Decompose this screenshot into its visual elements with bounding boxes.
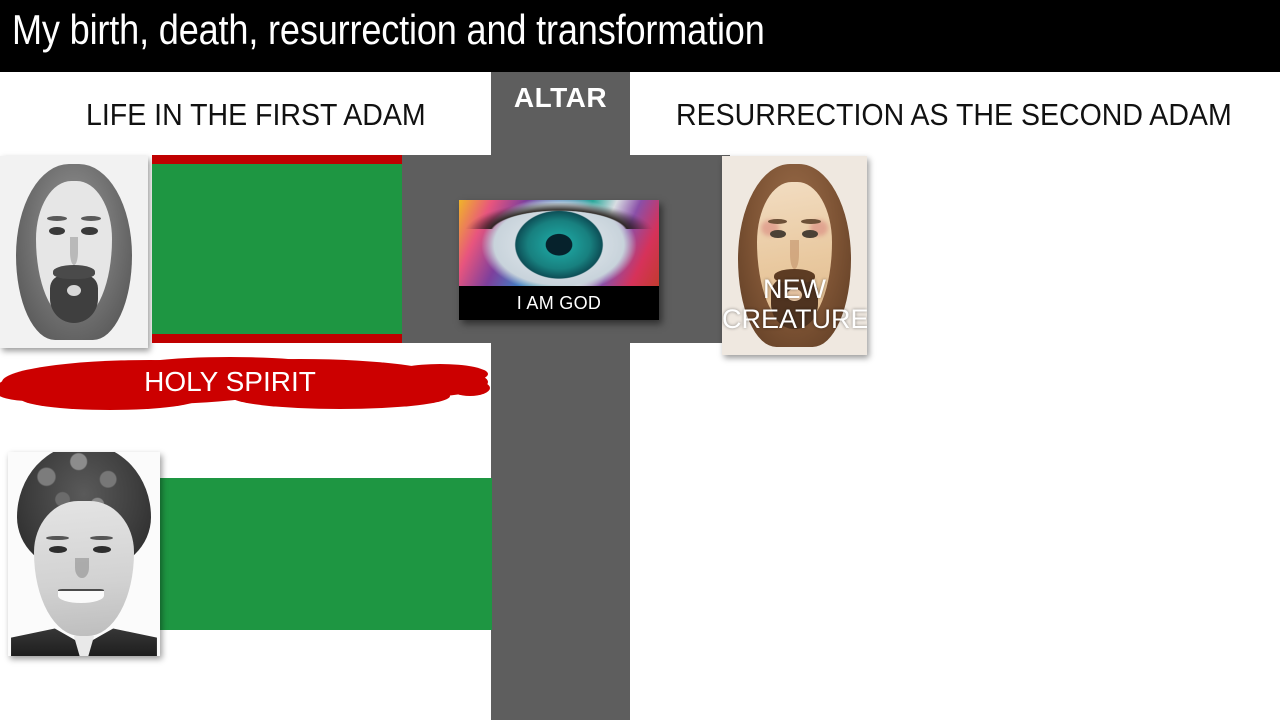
beard-shape: [50, 275, 97, 323]
right-eyebrow-shape: [801, 219, 821, 224]
page-title: My birth, death, resurrection and transf…: [12, 6, 765, 54]
smile-shape: [58, 589, 104, 603]
face-illustration: [0, 156, 148, 348]
eyelash-shape: [459, 203, 659, 229]
right-eye-shape: [93, 546, 111, 553]
right-eyebrow-shape: [90, 536, 113, 540]
man-grayscale-headshot: [8, 452, 160, 656]
left-eye-shape: [49, 546, 67, 553]
new-creature-line1: NEW: [722, 274, 867, 304]
heading-resurrection-second-adam: RESURRECTION AS THE SECOND ADAM: [676, 97, 1232, 133]
nose-shape: [790, 240, 799, 270]
altar-eye-card: I AM GOD: [459, 200, 659, 320]
holy-spirit-label: HOLY SPIRIT: [0, 366, 460, 398]
nose-shape: [75, 558, 89, 578]
new-creature-overlay: NEW CREATURE: [722, 274, 867, 334]
red-bar-top: [152, 155, 402, 164]
moustache-shape: [53, 265, 94, 278]
bottom-green-panel: [158, 478, 492, 630]
altar-label: ALTAR: [491, 82, 630, 114]
left-eye-shape: [770, 230, 786, 238]
presentation-slide: My birth, death, resurrection and transf…: [0, 0, 1280, 720]
right-eye-shape: [81, 227, 97, 235]
first-adam-green-panel: [152, 155, 402, 343]
heading-life-in-first-adam: LIFE IN THE FIRST ADAM: [86, 97, 426, 133]
jesus-face-grayscale-portrait: [0, 156, 148, 348]
right-eye-shape: [802, 230, 818, 238]
jesus-face-watercolor-portrait: NEW CREATURE: [722, 156, 867, 355]
left-eyebrow-shape: [768, 219, 788, 224]
new-creature-line2: CREATURE: [722, 304, 867, 334]
colorful-mosaic-eye-icon: [459, 200, 659, 286]
title-bar: My birth, death, resurrection and transf…: [0, 0, 1280, 72]
left-eyebrow-shape: [46, 536, 69, 540]
altar-eye-caption: I AM GOD: [459, 286, 659, 320]
red-bar-bottom: [152, 334, 402, 343]
holy-spirit-cloud: HOLY SPIRIT: [0, 352, 490, 414]
